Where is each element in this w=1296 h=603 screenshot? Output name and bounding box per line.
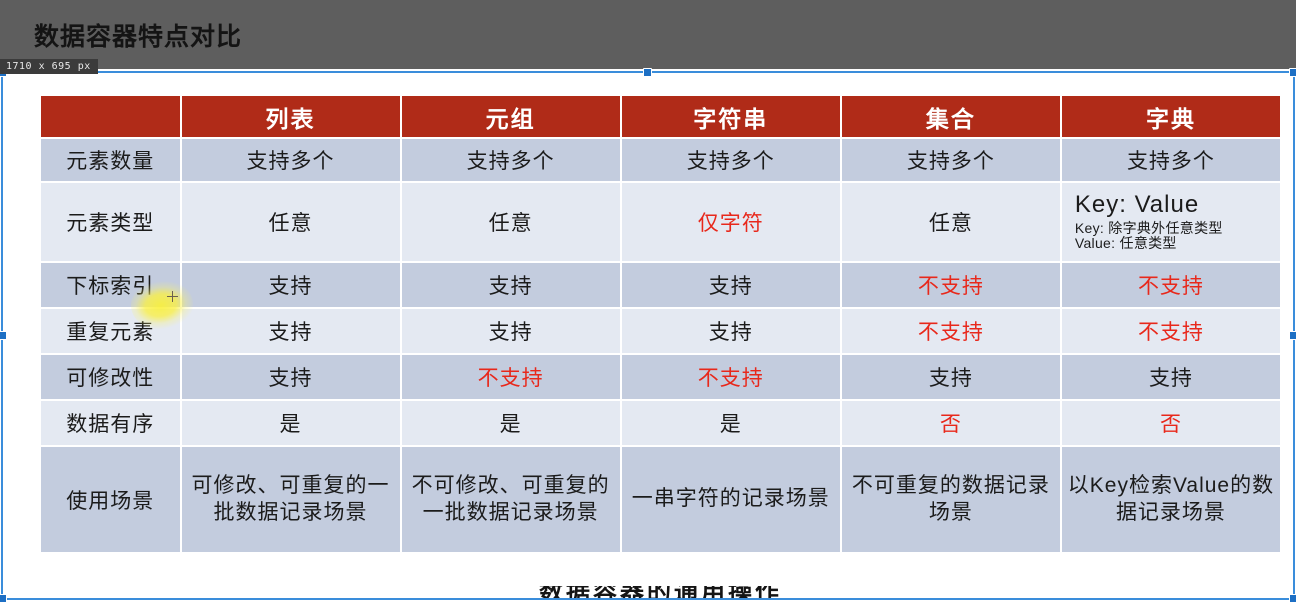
cell-count-set: 支持多个 xyxy=(842,139,1060,181)
data-container-comparison-table: 列表 元组 字符串 集合 字典 元素数量 支持多个 支持多个 支持多个 支持多个… xyxy=(39,94,1282,554)
cell-usage-list: 可修改、可重复的一批数据记录场景 xyxy=(182,447,400,552)
row-label-element-type: 元素类型 xyxy=(41,183,180,261)
cell-index-tuple: 支持 xyxy=(402,263,620,307)
header-cell-string: 字符串 xyxy=(622,96,840,137)
row-label-index: 下标索引 xyxy=(41,263,180,307)
table-row: 重复元素 支持 支持 支持 不支持 不支持 xyxy=(41,309,1280,353)
header-cell-set: 集合 xyxy=(842,96,1060,137)
header-cell-list: 列表 xyxy=(182,96,400,137)
bottom-caption-text: 数据容器的通用操作 xyxy=(39,586,1282,598)
table-row: 数据有序 是 是 是 否 否 xyxy=(41,401,1280,445)
cell-dup-dict: 不支持 xyxy=(1062,309,1280,353)
cell-mut-set: 支持 xyxy=(842,355,1060,399)
table-header-row: 列表 元组 字符串 集合 字典 xyxy=(41,96,1280,137)
corner-overlay[interactable] xyxy=(1261,568,1293,598)
header-cell-corner xyxy=(41,96,180,137)
cell-index-string: 支持 xyxy=(622,263,840,307)
key-value-block: Key: Value Key: 除字典外任意类型 Value: 任意类型 xyxy=(1062,192,1280,252)
cell-usage-dict: 以Key检索Value的数据记录场景 xyxy=(1062,447,1280,552)
cell-usage-set: 不可重复的数据记录场景 xyxy=(842,447,1060,552)
cell-order-tuple: 是 xyxy=(402,401,620,445)
cell-dup-list: 支持 xyxy=(182,309,400,353)
cell-dup-string: 支持 xyxy=(622,309,840,353)
row-label-mutability: 可修改性 xyxy=(41,355,180,399)
slide-canvas[interactable]: 列表 元组 字符串 集合 字典 元素数量 支持多个 支持多个 支持多个 支持多个… xyxy=(3,73,1293,598)
cell-type-string: 仅字符 xyxy=(622,183,840,261)
table-row: 下标索引 支持 支持 支持 不支持 不支持 xyxy=(41,263,1280,307)
key-value-sub-value: Value: 任意类型 xyxy=(1075,236,1274,252)
size-readout-badge: 1710 x 695 px xyxy=(0,59,98,74)
key-value-sub-key: Key: 除字典外任意类型 xyxy=(1075,221,1274,237)
cell-order-list: 是 xyxy=(182,401,400,445)
row-label-element-count: 元素数量 xyxy=(41,139,180,181)
table-row: 元素数量 支持多个 支持多个 支持多个 支持多个 支持多个 xyxy=(41,139,1280,181)
cell-index-dict: 不支持 xyxy=(1062,263,1280,307)
cell-dup-set: 不支持 xyxy=(842,309,1060,353)
table-body: 元素数量 支持多个 支持多个 支持多个 支持多个 支持多个 元素类型 任意 任意… xyxy=(41,139,1280,552)
cell-index-set: 不支持 xyxy=(842,263,1060,307)
cell-type-list: 任意 xyxy=(182,183,400,261)
row-label-duplicate: 重复元素 xyxy=(41,309,180,353)
cell-dup-tuple: 支持 xyxy=(402,309,620,353)
cell-index-list: 支持 xyxy=(182,263,400,307)
header-cell-dict: 字典 xyxy=(1062,96,1280,137)
cell-order-set: 否 xyxy=(842,401,1060,445)
cell-usage-tuple: 不可修改、可重复的一批数据记录场景 xyxy=(402,447,620,552)
bottom-caption-clip: 数据容器的通用操作 xyxy=(39,586,1282,598)
cell-mut-tuple: 不支持 xyxy=(402,355,620,399)
row-label-ordered: 数据有序 xyxy=(41,401,180,445)
slide-title: 数据容器特点对比 xyxy=(34,17,242,53)
table-header: 列表 元组 字符串 集合 字典 xyxy=(41,96,1280,137)
cell-order-string: 是 xyxy=(622,401,840,445)
cell-order-dict: 否 xyxy=(1062,401,1280,445)
cell-count-dict: 支持多个 xyxy=(1062,139,1280,181)
table-row: 可修改性 支持 不支持 不支持 支持 支持 xyxy=(41,355,1280,399)
header-cell-tuple: 元组 xyxy=(402,96,620,137)
cell-type-tuple: 任意 xyxy=(402,183,620,261)
editor-top-bar: 数据容器特点对比 xyxy=(0,0,1296,69)
table-row: 元素类型 任意 任意 仅字符 任意 Key: Value Key: 除字典外任意… xyxy=(41,183,1280,261)
cell-count-list: 支持多个 xyxy=(182,139,400,181)
cell-type-dict: Key: Value Key: 除字典外任意类型 Value: 任意类型 xyxy=(1062,183,1280,261)
cell-usage-string: 一串字符的记录场景 xyxy=(622,447,840,552)
cell-count-tuple: 支持多个 xyxy=(402,139,620,181)
cell-mut-dict: 支持 xyxy=(1062,355,1280,399)
table-row: 使用场景 可修改、可重复的一批数据记录场景 不可修改、可重复的一批数据记录场景 … xyxy=(41,447,1280,552)
cell-count-string: 支持多个 xyxy=(622,139,840,181)
cell-type-set: 任意 xyxy=(842,183,1060,261)
cell-mut-list: 支持 xyxy=(182,355,400,399)
row-label-use-case: 使用场景 xyxy=(41,447,180,552)
cell-mut-string: 不支持 xyxy=(622,355,840,399)
key-value-main: Key: Value xyxy=(1075,192,1274,219)
